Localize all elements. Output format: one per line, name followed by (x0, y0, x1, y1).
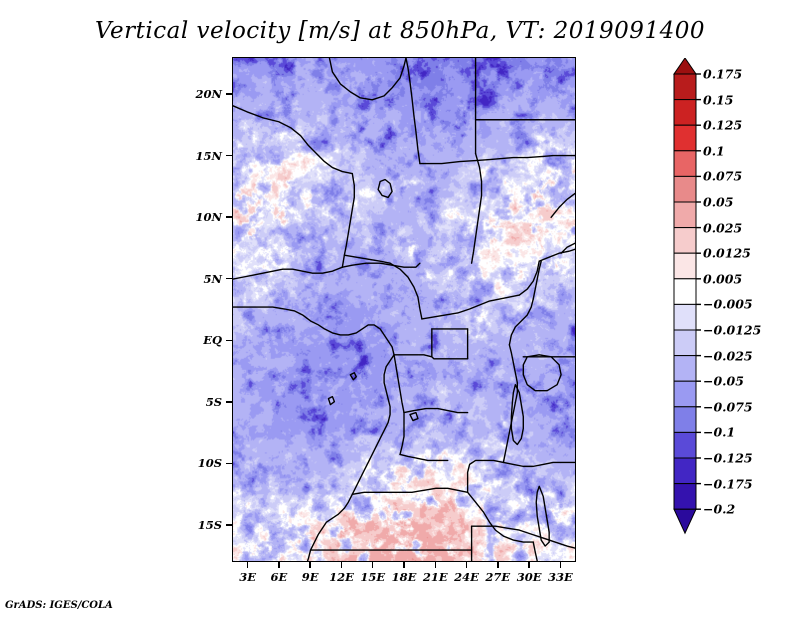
x-axis-tick (403, 562, 405, 568)
y-axis-label: 15N (162, 149, 222, 163)
colorbar-tick-label: −0.005 (703, 297, 753, 312)
colorbar-tick-label: −0.025 (703, 348, 753, 363)
x-axis-tick (560, 562, 562, 568)
colorbar-tick-label: 0.075 (703, 169, 742, 184)
colorbar-tick-label: −0.2 (703, 502, 735, 517)
page-title: Vertical velocity [m/s] at 850hPa, VT: 2… (0, 18, 800, 44)
colorbar-tick-label: −0.0125 (703, 323, 761, 338)
y-axis-tick (226, 401, 232, 403)
x-axis-tick (247, 562, 249, 568)
colorbar-tick-label: 0.05 (703, 195, 733, 210)
colorbar-tick-label: 0.175 (703, 67, 742, 82)
y-axis-label: 10S (162, 456, 222, 470)
colorbar-band (674, 304, 696, 330)
x-axis-tick (528, 562, 530, 568)
x-axis-tick (309, 562, 311, 568)
colorbar-band (674, 74, 696, 100)
country-borders-overlay (233, 58, 575, 561)
y-axis-tick (226, 93, 232, 95)
colorbar-band (674, 458, 696, 484)
colorbar-tick-label: −0.1 (703, 425, 735, 440)
colorbar-arrow-max (674, 58, 696, 74)
y-axis-tick (226, 278, 232, 280)
colorbar-tick-label: 0.15 (703, 92, 733, 107)
colorbar: 0.1750.150.1250.10.0750.050.0250.01250.0… (672, 58, 792, 564)
footer-credit: GrADS: IGES/COLA (5, 600, 113, 611)
colorbar-tick-label: 0.125 (703, 118, 742, 133)
x-axis-tick (497, 562, 499, 568)
colorbar-tick-label: −0.05 (703, 374, 744, 389)
y-axis-label: 20N (162, 87, 222, 101)
y-axis-label: 5N (162, 272, 222, 286)
colorbar-tick-label: 0.0125 (703, 246, 751, 261)
colorbar-band (674, 151, 696, 177)
colorbar-arrow-min (674, 509, 696, 533)
y-axis-label: 15S (162, 518, 222, 532)
colorbar-band (674, 125, 696, 151)
colorbar-band (674, 176, 696, 202)
y-axis-label: 10N (162, 210, 222, 224)
colorbar-tick-label: 0.1 (703, 143, 725, 158)
x-axis-tick (466, 562, 468, 568)
colorbar-tick-label: 0.025 (703, 220, 742, 235)
colorbar-band (674, 356, 696, 382)
x-axis-tick (278, 562, 280, 568)
y-axis-tick (226, 463, 232, 465)
colorbar-band (674, 381, 696, 407)
colorbar-tick-label: −0.125 (703, 451, 753, 466)
y-axis-tick (226, 155, 232, 157)
x-axis-tick (372, 562, 374, 568)
x-axis-label: 33E (535, 570, 585, 584)
colorbar-band (674, 407, 696, 433)
colorbar-tick-label: −0.175 (703, 476, 753, 491)
colorbar-band (674, 228, 696, 254)
x-axis-tick (435, 562, 437, 568)
colorbar-band (674, 484, 696, 510)
y-axis-label: EQ (162, 333, 222, 347)
y-axis-label: 5S (162, 395, 222, 409)
colorbar-band (674, 253, 696, 279)
colorbar-band (674, 279, 696, 305)
colorbar-band (674, 330, 696, 356)
x-axis-tick (341, 562, 343, 568)
map-plot-area (232, 57, 576, 562)
colorbar-band (674, 202, 696, 228)
colorbar-tick-label: −0.075 (703, 399, 753, 414)
colorbar-band (674, 100, 696, 126)
y-axis-tick (226, 524, 232, 526)
colorbar-tick-label: 0.005 (703, 271, 742, 286)
y-axis-tick (226, 340, 232, 342)
y-axis-tick (226, 216, 232, 218)
colorbar-band (674, 432, 696, 458)
